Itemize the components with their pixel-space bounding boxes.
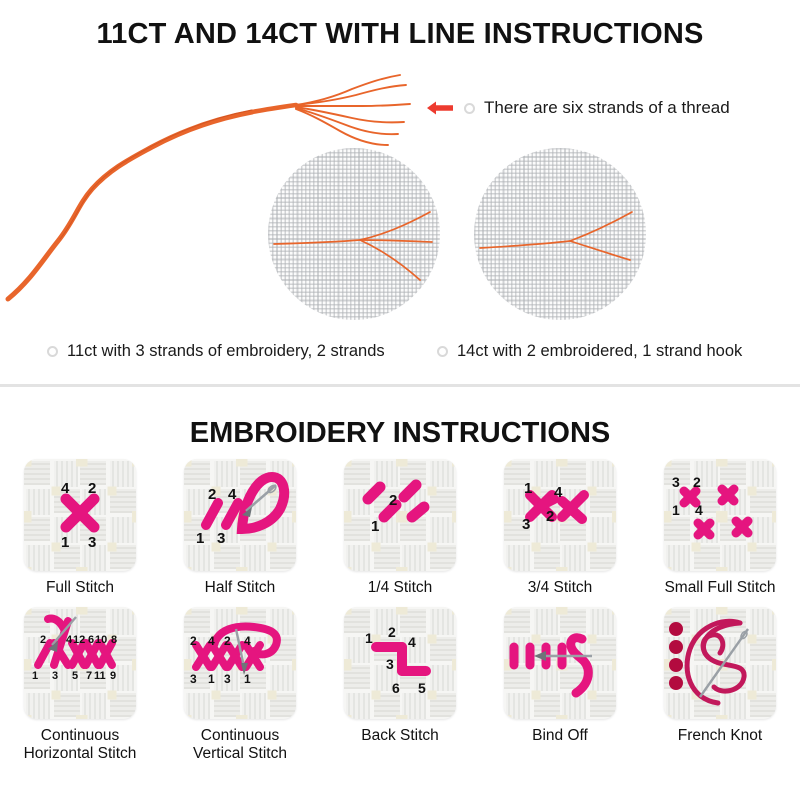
stitch-cell-french-knot[interactable]: French Knot: [640, 607, 800, 763]
number-label: 4: [554, 484, 563, 501]
number-label: 2: [388, 624, 396, 640]
stitch-diagram-half-stitch: 2 4 1 3: [184, 459, 296, 571]
six-strands-note: There are six strands of a thread: [425, 98, 730, 118]
number-label: 9: [110, 670, 116, 682]
number-label: 1: [524, 480, 532, 497]
number-label: 2: [190, 634, 197, 648]
number-label: 4: [208, 634, 215, 648]
number-label: 1: [196, 530, 204, 547]
number-label: 6: [392, 680, 400, 696]
number-label: 5: [72, 670, 78, 682]
stitch-cell-continuous-vertical-stitch[interactable]: 2 4 2 4 3 1 3 1 Continuous Verti: [160, 607, 320, 763]
number-label: 4: [61, 480, 70, 497]
stitch-diagram-french-knot: [664, 607, 776, 719]
number-label: 3: [224, 672, 231, 686]
stitch-label: 3/4 Stitch: [528, 579, 593, 597]
aida-circle-11ct: [268, 148, 440, 320]
ring-bullet-icon: [464, 103, 475, 114]
stitch-cell-quarter-stitch[interactable]: 2 1 1/4 Stitch: [320, 459, 480, 597]
number-label: 3: [522, 516, 530, 533]
number-label: 8: [111, 634, 117, 646]
number-label: 7: [86, 670, 92, 682]
number-label: 1: [672, 502, 680, 518]
stitch-marks: 2 4 1 3: [184, 459, 296, 571]
stitch-cell-bind-off[interactable]: Bind Off: [480, 607, 640, 763]
number-label: 3: [52, 670, 58, 682]
stitch-diagram-back-stitch: 1 2 4 3 6 5: [344, 607, 456, 719]
thread-instructions-section: 11CT AND 14CT WITH LINE INSTRUCTIONS: [0, 0, 800, 385]
number-label: 2: [693, 474, 701, 490]
number-label: 3: [672, 474, 680, 490]
number-label: 1: [244, 672, 251, 686]
number-label: 5: [418, 680, 426, 696]
stitch-diagram-full-stitch: 4 2 1 3: [24, 459, 136, 571]
stitch-marks: 4 2 1 3: [24, 459, 136, 571]
stitch-cell-half-stitch[interactable]: 2 4 1 3 Half Stitch: [160, 459, 320, 597]
stitch-marks: 2 4 12 6 10 8 1 3 5 7 11: [24, 607, 136, 719]
number-label: 10: [95, 634, 107, 646]
stitch-cell-three-quarter-stitch[interactable]: 1 4 2 3 3/4 Stitch: [480, 459, 640, 597]
number-label: 4: [228, 486, 237, 503]
stitch-marks: 2 4 2 4 3 1 3 1: [184, 607, 296, 719]
stitch-label: Back Stitch: [361, 727, 439, 745]
number-label: 3: [190, 672, 197, 686]
number-label: 1: [371, 518, 379, 535]
number-label: 1: [208, 672, 215, 686]
number-label: 4: [244, 634, 251, 648]
caption-11ct-text: 11ct with 3 strands of embroidery, 2 str…: [67, 342, 385, 361]
number-label: 4: [66, 634, 73, 646]
six-strands-note-text: There are six strands of a thread: [484, 98, 730, 118]
number-label: 1: [32, 670, 38, 682]
stitch-diagram-small-full-stitch: 3 2 1 4: [664, 459, 776, 571]
stitch-diagram-three-quarter-stitch: 1 4 2 3: [504, 459, 616, 571]
number-label: 1: [365, 630, 373, 646]
stitch-marks: 1 4 2 3: [504, 459, 616, 571]
stitch-label: French Knot: [678, 727, 762, 745]
number-label: 2: [208, 486, 216, 503]
stitch-diagram-continuous-horizontal: 2 4 12 6 10 8 1 3 5 7 11: [24, 607, 136, 719]
number-label: 4: [695, 502, 703, 518]
page-root: 11CT AND 14CT WITH LINE INSTRUCTIONS: [0, 0, 800, 800]
number-label: 3: [386, 656, 394, 672]
stitch-marks: 3 2 1 4: [664, 459, 776, 571]
stitch-marks: 2 1: [344, 459, 456, 571]
caption-14ct: 14ct with 2 embroidered, 1 strand hook: [437, 342, 742, 361]
stitch-marks: [664, 607, 776, 719]
stitch-label: Bind Off: [532, 727, 588, 745]
stitch-label: Half Stitch: [205, 579, 276, 597]
number-label: 6: [88, 634, 94, 646]
number-label: 3: [88, 534, 96, 551]
stitch-label: Small Full Stitch: [664, 579, 775, 597]
number-label: 1: [61, 534, 69, 551]
left-arrow-icon: [425, 100, 455, 116]
number-label: 4: [408, 634, 416, 650]
number-label: 2: [224, 634, 231, 648]
ring-bullet-icon: [437, 346, 448, 357]
stitch-cell-full-stitch[interactable]: 4 2 1 3 Full Stitch: [0, 459, 160, 597]
stitch-cell-small-full-stitch[interactable]: 3 2 1 4 Small Full Stitch: [640, 459, 800, 597]
caption-14ct-text: 14ct with 2 embroidered, 1 strand hook: [457, 342, 742, 361]
stitch-label: Continuous Horizontal Stitch: [24, 727, 137, 763]
stitch-diagram-continuous-vertical: 2 4 2 4 3 1 3 1: [184, 607, 296, 719]
stitch-grid: 4 2 1 3 Full Stitch: [0, 459, 800, 762]
number-label: 2: [546, 508, 554, 525]
stitch-diagram-bind-off: [504, 607, 616, 719]
number-label: 2: [88, 480, 96, 497]
stitch-marks: [504, 607, 616, 719]
stitch-cell-back-stitch[interactable]: 1 2 4 3 6 5 Back Stitch: [320, 607, 480, 763]
number-label: 12: [73, 634, 85, 646]
embroidery-title: EMBROIDERY INSTRUCTIONS: [0, 417, 800, 450]
number-label: 2: [40, 634, 46, 646]
stitch-marks: 1 2 4 3 6 5: [344, 607, 456, 719]
stitch-label: Full Stitch: [46, 579, 114, 597]
page-title: 11CT AND 14CT WITH LINE INSTRUCTIONS: [0, 18, 800, 51]
stitch-label: 1/4 Stitch: [368, 579, 433, 597]
stitch-cell-continuous-horizontal-stitch[interactable]: 2 4 12 6 10 8 1 3 5 7 11: [0, 607, 160, 763]
knot-dots: [669, 622, 683, 690]
stitch-diagram-quarter-stitch: 2 1: [344, 459, 456, 571]
number-label: 11: [94, 670, 106, 682]
ring-bullet-icon: [47, 346, 58, 357]
number-label: 3: [217, 530, 225, 547]
aida-circle-14ct: [474, 148, 646, 320]
embroidery-instructions-section: EMBROIDERY INSTRUCTIONS: [0, 387, 800, 800]
stitch-label: Continuous Vertical Stitch: [193, 727, 287, 763]
number-label: 2: [389, 492, 397, 509]
aida-captions: 11ct with 3 strands of embroidery, 2 str…: [0, 342, 800, 368]
caption-11ct: 11ct with 3 strands of embroidery, 2 str…: [47, 342, 385, 361]
